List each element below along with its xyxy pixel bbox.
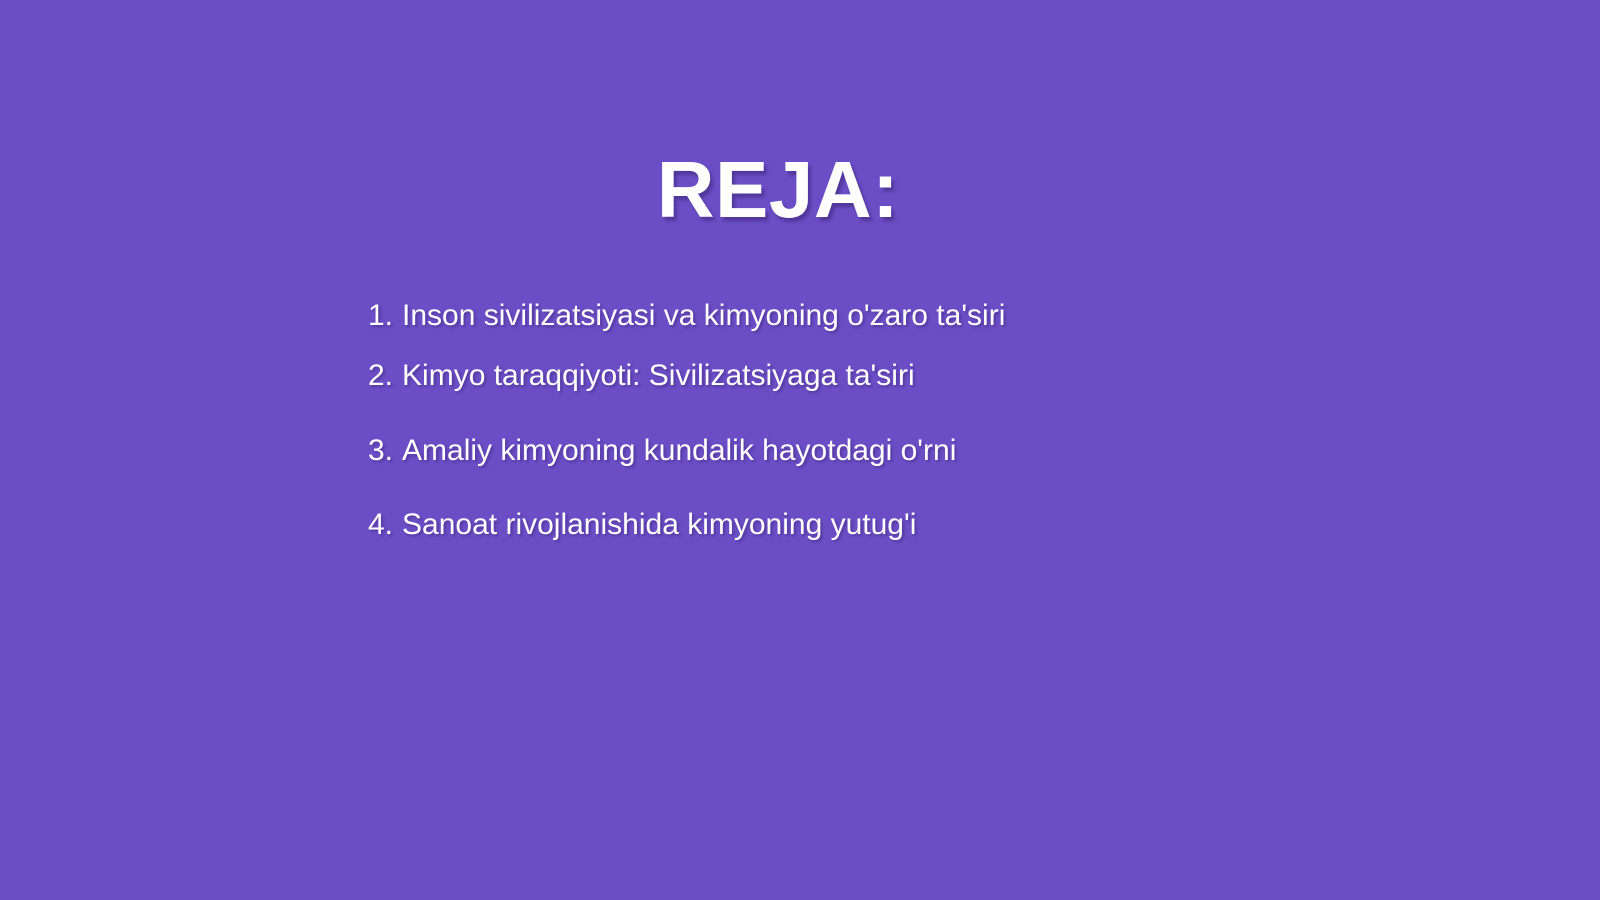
list-item: 1. Inson sivilizatsiyasi va kimyoning o'… [368,300,1268,332]
list-item-label: Kimyo taraqqiyoti: Sivilizatsiyaga ta'si… [402,360,915,392]
list-item: 3. Amaliy kimyoning kundalik hayotdagi o… [368,435,1268,467]
list-item-label: Inson sivilizatsiyasi va kimyoning o'zar… [402,300,1005,332]
list-item: 2. Kimyo taraqqiyoti: Sivilizatsiyaga ta… [368,360,1268,392]
presentation-slide: REJA: 1. Inson sivilizatsiyasi va kimyon… [0,0,1600,900]
agenda-list: 1. Inson sivilizatsiyasi va kimyoning o'… [368,300,1268,542]
list-item-label: Sanoat rivojlanishida kimyoning yutug'i [402,509,916,541]
list-item: 4. Sanoat rivojlanishida kimyoning yutug… [368,509,1268,541]
list-item-number: 3. [368,435,393,467]
list-item-number: 1. [368,300,393,332]
list-item-label: Amaliy kimyoning kundalik hayotdagi o'rn… [402,435,956,467]
list-item-number: 2. [368,360,393,392]
list-item-number: 4. [368,509,393,541]
page-title: REJA: [0,150,1556,230]
